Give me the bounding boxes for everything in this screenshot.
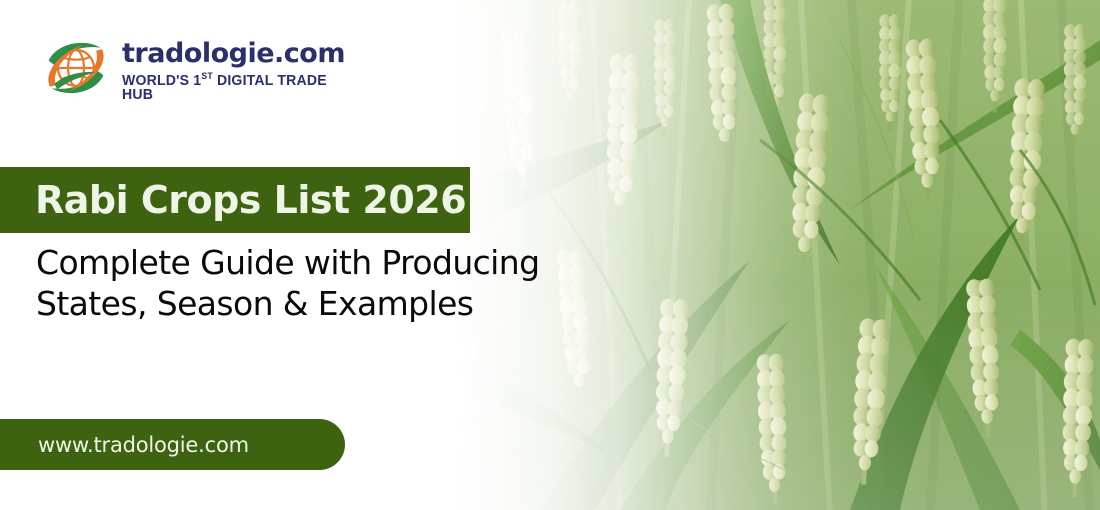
brand-logo[interactable]: tradologie.com WORLD'S 1ST DIGITAL TRADE…	[40, 30, 360, 105]
brand-name: tradologie.com	[122, 40, 360, 67]
brand-wordmark: tradologie.com WORLD'S 1ST DIGITAL TRADE…	[122, 40, 360, 103]
brand-tagline: WORLD'S 1ST DIGITAL TRADE HUB	[122, 72, 353, 103]
title-banner: Rabi Crops List 2026	[0, 167, 470, 233]
tagline-superscript: ST	[201, 71, 213, 81]
promo-banner: tradologie.com WORLD'S 1ST DIGITAL TRADE…	[0, 0, 1100, 510]
website-url: www.tradologie.com	[0, 433, 249, 457]
globe-icon	[40, 32, 112, 104]
website-url-pill[interactable]: www.tradologie.com	[0, 419, 345, 470]
page-title: Rabi Crops List 2026	[0, 178, 466, 222]
page-subtitle: Complete Guide with Producing States, Se…	[36, 243, 596, 325]
